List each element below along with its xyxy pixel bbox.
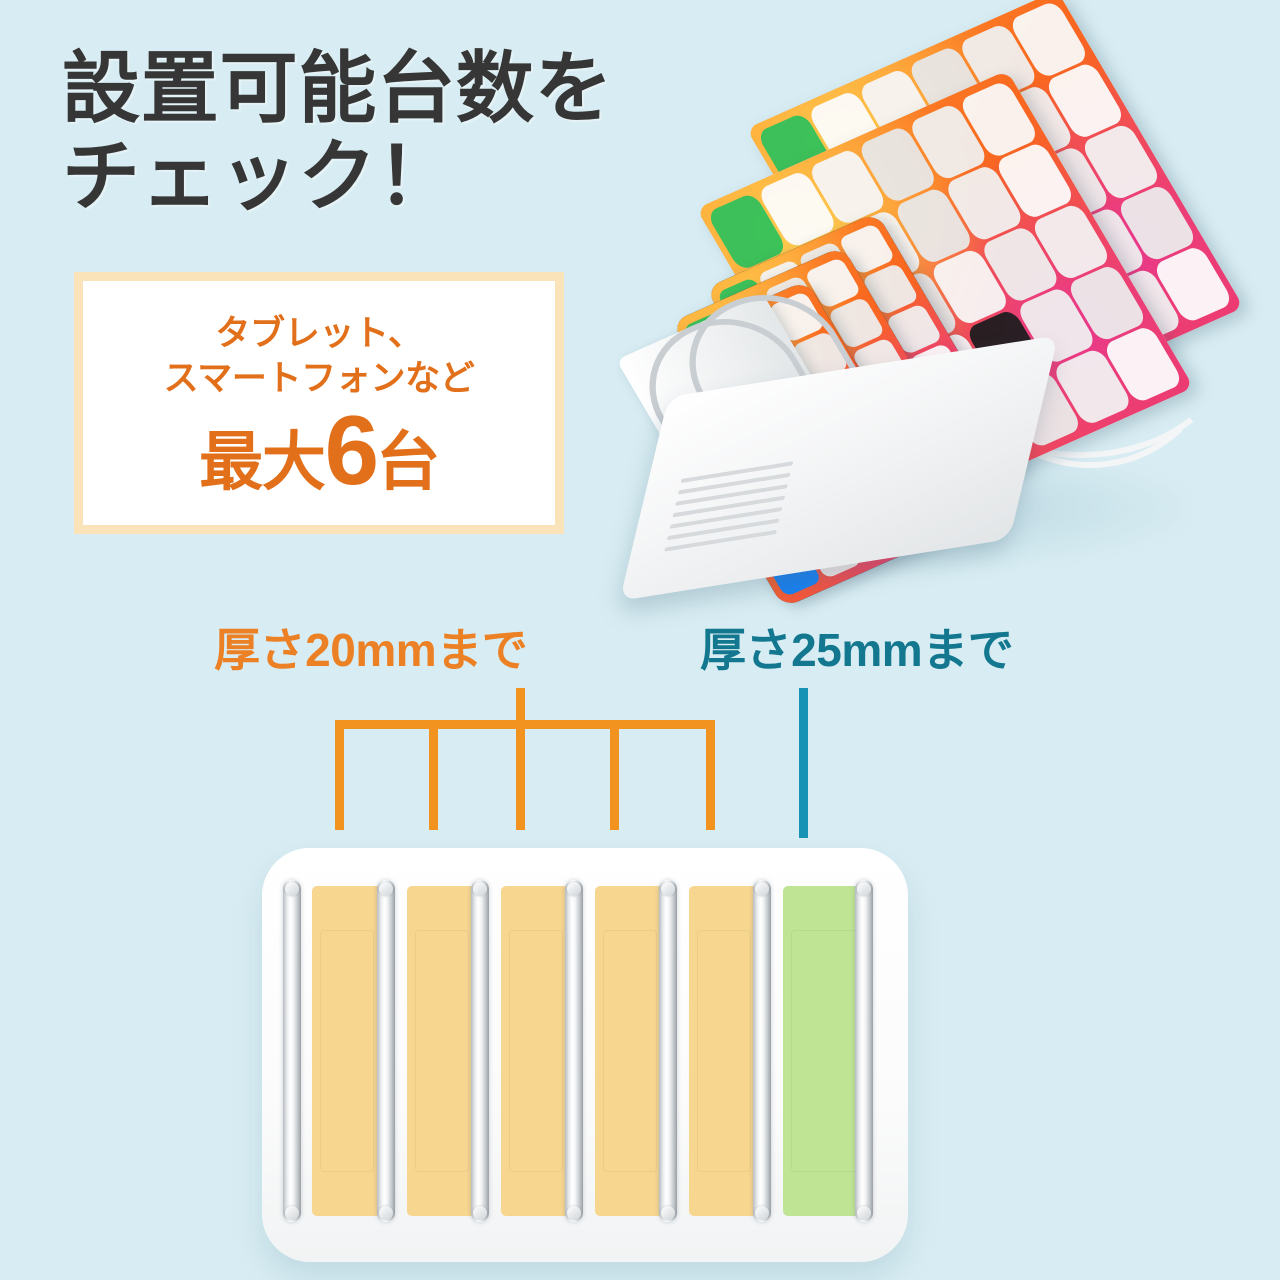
metal-wire-divider-2 <box>377 880 395 1222</box>
device-slot-3 <box>501 886 571 1216</box>
bracket-tick <box>516 720 525 830</box>
capacity-callout-box: タブレット、 スマートフォンなど 最大 6 台 <box>74 272 564 534</box>
metal-wire-divider-7 <box>855 880 873 1222</box>
thickness-label-25mm: 厚さ25mmまで <box>700 614 1013 680</box>
metal-wire-divider-3 <box>471 880 489 1222</box>
callout-capacity-suffix: 台 <box>376 430 439 494</box>
vent-slots <box>662 461 794 562</box>
thickness-label-20mm: 厚さ20mmまで <box>214 614 527 680</box>
slot-fill <box>689 886 759 1216</box>
slot-fill <box>407 886 477 1216</box>
bracket-tick <box>429 720 438 830</box>
product-photo <box>630 18 1270 578</box>
metal-wire-divider-6 <box>753 880 771 1222</box>
device-slot-2 <box>407 886 477 1216</box>
page-title-line-2: チェック！ <box>62 132 613 220</box>
orange-bracket <box>335 688 715 848</box>
slot-fill <box>501 886 571 1216</box>
teal-leader-line <box>799 688 808 838</box>
callout-subtitle-line-1: タブレット、 <box>164 312 475 356</box>
callout-capacity-number: 6 <box>325 409 377 491</box>
charging-station-top-view <box>262 848 908 1262</box>
metal-wire-divider-4 <box>565 880 583 1222</box>
callout-capacity: 最大 6 台 <box>199 409 439 494</box>
callout-subtitle: タブレット、 スマートフォンなど <box>164 312 475 400</box>
slot-thickness-diagram: 厚さ20mmまで 厚さ25mmまで <box>0 596 1280 1280</box>
slot-fill <box>595 886 665 1216</box>
page-title-line-1: 設置可能台数を <box>62 44 613 132</box>
bracket-tick <box>706 720 715 830</box>
device-slot-1 <box>312 886 382 1216</box>
page-title: 設置可能台数を チェック！ <box>62 44 613 220</box>
bracket-bar <box>335 720 715 729</box>
bracket-tick <box>335 720 344 830</box>
metal-wire-divider-1 <box>283 880 301 1222</box>
slot-fill <box>312 886 382 1216</box>
metal-wire-divider-5 <box>659 880 677 1222</box>
callout-subtitle-line-2: スマートフォンなど <box>164 357 475 401</box>
device-slot-5 <box>689 886 759 1216</box>
bracket-tick <box>610 720 619 830</box>
callout-capacity-prefix: 最大 <box>199 430 324 494</box>
device-slot-4 <box>595 886 665 1216</box>
